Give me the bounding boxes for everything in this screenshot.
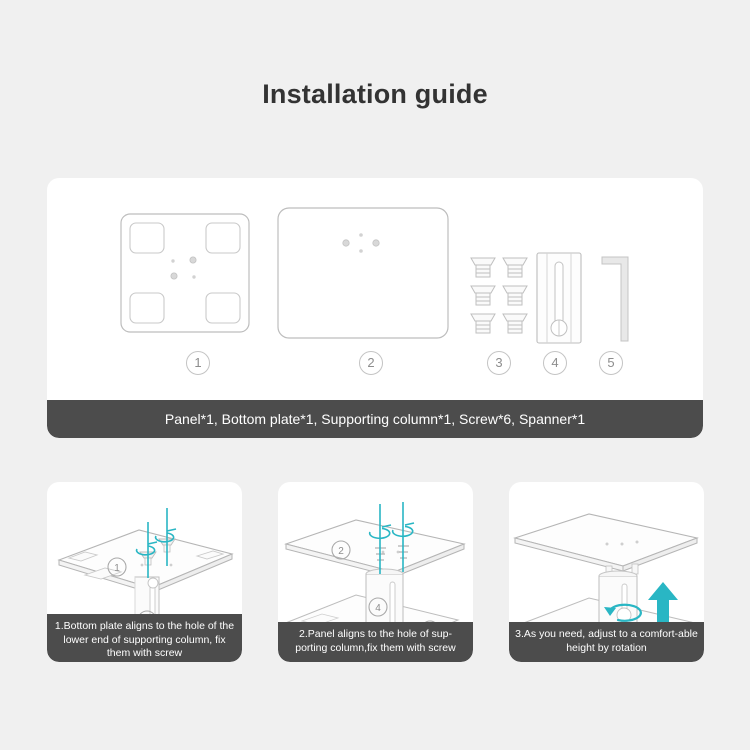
svg-text:2: 2 <box>338 546 344 557</box>
step-card-3: 3.As you need, adjust to a comfort-able … <box>509 482 704 662</box>
parts-card: 1 2 3 4 5 Panel*1, Bottom plate*1, Suppo… <box>47 178 703 438</box>
part-number-2: 2 <box>359 351 383 375</box>
parts-illustration-area: 1 2 3 4 5 <box>47 178 703 390</box>
part-number-1: 1 <box>186 351 210 375</box>
page-title: Installation guide <box>0 79 750 110</box>
step-caption-2: 2.Panel aligns to the hole of sup-portin… <box>278 622 473 662</box>
bill-of-materials-bar: Panel*1, Bottom plate*1, Supporting colu… <box>47 400 703 438</box>
step-card-2: 2 4 1 2.Panel aligns to the hole of sup-… <box>278 482 473 662</box>
step-card-1: 1 4 1.Bottom plate aligns to the hole of… <box>47 482 242 662</box>
step-caption-1: 1.Bottom plate aligns to the hole of the… <box>47 614 242 662</box>
part-number-4: 4 <box>543 351 567 375</box>
step-caption-3: 3.As you need, adjust to a comfort-able … <box>509 622 704 662</box>
part-number-3: 3 <box>487 351 511 375</box>
svg-text:4: 4 <box>375 603 381 614</box>
svg-text:1: 1 <box>114 563 120 574</box>
part-number-5: 5 <box>599 351 623 375</box>
